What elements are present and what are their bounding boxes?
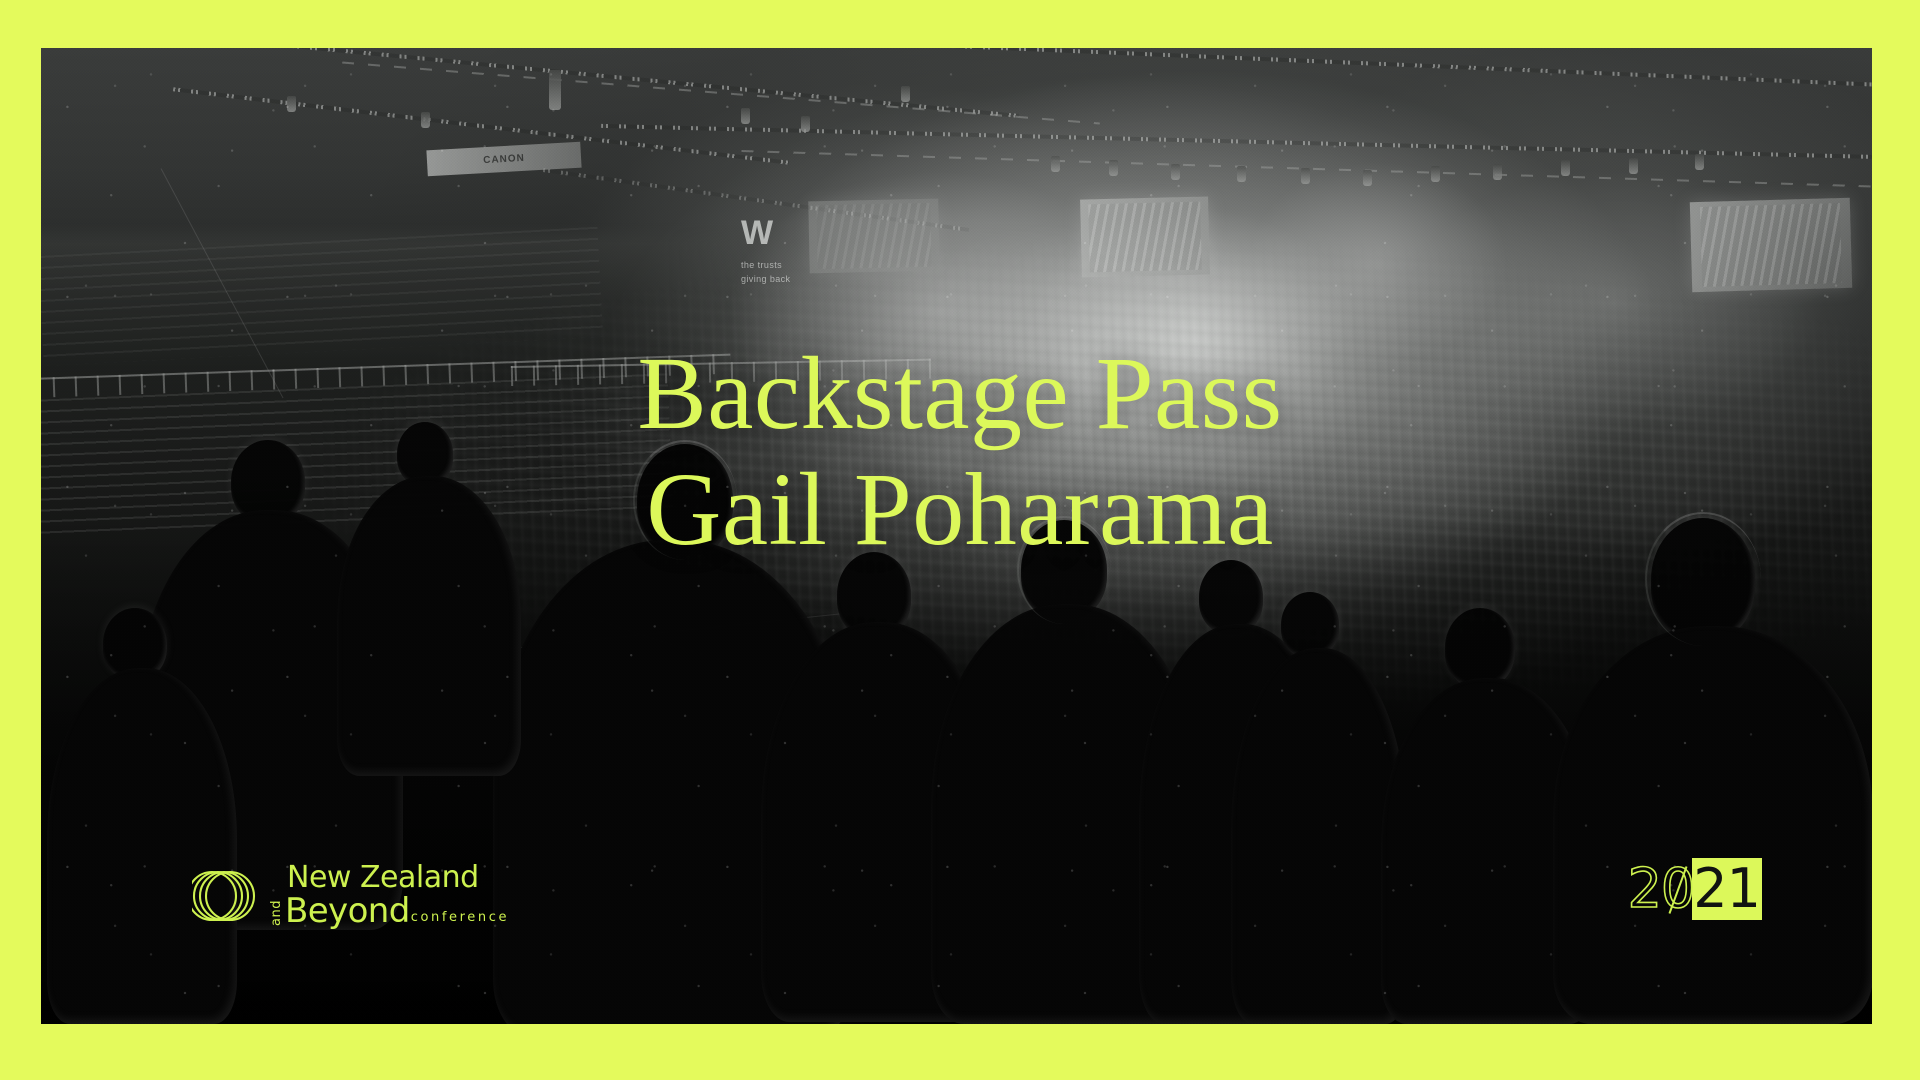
logo-line-beyond: Beyond bbox=[285, 896, 410, 928]
zero-slash-accent bbox=[1669, 866, 1688, 914]
logo-line-beyond-row: and Beyond conference bbox=[270, 896, 509, 928]
year-solid-part: 21 bbox=[1693, 857, 1760, 920]
year-badge: 20 21 bbox=[1628, 858, 1762, 920]
slide-canvas: CANON W the trusts giving back bbox=[0, 0, 1920, 1080]
spiral-rings-icon bbox=[192, 864, 256, 928]
logo-line-new-zealand: New Zealand bbox=[287, 863, 509, 893]
year-outline-part: 20 bbox=[1628, 862, 1695, 916]
logo-connector-and: and bbox=[270, 900, 283, 926]
year-solid-block: 21 bbox=[1692, 858, 1762, 920]
conference-logo: New Zealand and Beyond conference bbox=[192, 863, 509, 928]
logo-wordmark: New Zealand and Beyond conference bbox=[270, 863, 509, 928]
logo-descriptor-conference: conference bbox=[411, 911, 509, 928]
